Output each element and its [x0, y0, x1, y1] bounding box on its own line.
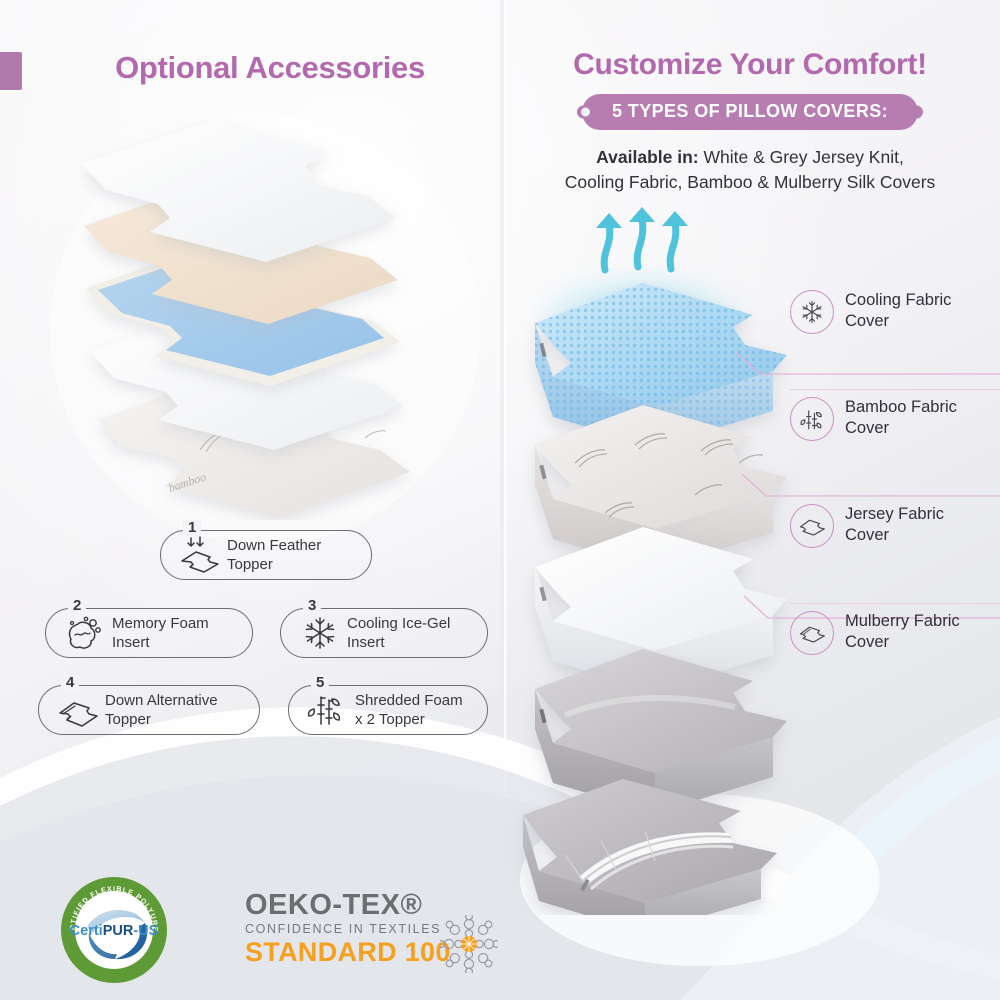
bamboo-icon [790, 397, 834, 441]
accessory-label: Down Feather Topper [227, 536, 335, 574]
corner-accent-square [0, 52, 22, 90]
available-in-text: Available in: White & Grey Jersey Knit, … [515, 145, 985, 195]
certipur-name: CertiPUR-US [70, 923, 159, 939]
accessory-number: 2 [68, 598, 86, 614]
available-in-label: Available in: [596, 147, 698, 167]
available-line-2: Cooling Fabric, Bamboo & Mulberry Silk C… [565, 172, 936, 192]
exploded-pillow-stack-illustration: bamboo bamboo [80, 120, 460, 520]
badge-notch-left [581, 108, 590, 117]
pillow-covers-stack-illustration [505, 195, 835, 915]
accessory-number: 5 [311, 675, 329, 691]
badge-notch-right [910, 108, 919, 117]
accessory-number: 4 [61, 675, 79, 691]
memory-foam-icon [62, 612, 108, 654]
snowflake-icon [297, 612, 343, 654]
accessory-label: Down Alternative Topper [105, 691, 232, 729]
accessory-pill-5[interactable]: 5 Shredded Foam x 2 Topper [288, 685, 488, 735]
accessory-label: Cooling Ice-Gel Insert [347, 614, 464, 652]
accessory-pill-3[interactable]: 3 Cooling Ice-Gel Insert [280, 608, 488, 658]
pillow-icon [790, 611, 834, 655]
left-panel-title: Optional Accessories [60, 50, 480, 86]
legend-label: Mulberry Fabric Cover [845, 609, 960, 653]
accessory-pill-1[interactable]: 1 Down Feather Topper [160, 530, 372, 580]
accessory-pill-4[interactable]: 4 Down Alternative Topper [38, 685, 260, 735]
assembled-pillow-with-zipper [523, 779, 777, 915]
down-feather-topper-icon [177, 534, 223, 576]
accessory-number: 1 [183, 520, 201, 536]
accessory-number: 3 [303, 598, 321, 614]
right-panel-title: Customize Your Comfort! [515, 48, 985, 82]
legend-label: Cooling Fabric Cover [845, 288, 951, 332]
badge-label: 5 TYPES OF PILLOW COVERS: [612, 101, 888, 121]
legend-row-bamboo[interactable]: Bamboo Fabric Cover [790, 389, 1000, 496]
available-line-1: White & Grey Jersey Knit, [703, 147, 903, 167]
legend-label: Bamboo Fabric Cover [845, 395, 957, 439]
oeko-tex-flower-icon [440, 915, 498, 973]
legend-row-jersey[interactable]: Jersey Fabric Cover [790, 496, 1000, 603]
legend-label: Jersey Fabric Cover [845, 502, 944, 546]
cover-legend-list: Cooling Fabric Cover Bamboo Fabric [790, 283, 1000, 710]
pillow-icon [790, 504, 834, 548]
pillow-covers-badge-wrap: 5 TYPES OF PILLOW COVERS: [515, 94, 985, 130]
accessory-pill-2[interactable]: 2 Memory Foam Insert [45, 608, 253, 658]
accessory-label: Shredded Foam x 2 Topper [355, 691, 477, 729]
pillow-covers-badge: 5 TYPES OF PILLOW COVERS: [582, 94, 918, 130]
snowflake-icon [790, 290, 834, 334]
bamboo-icon [305, 689, 351, 731]
down-alternative-topper-icon [55, 689, 101, 731]
legend-row-cooling[interactable]: Cooling Fabric Cover [790, 283, 1000, 389]
legend-row-mulberry[interactable]: Mulberry Fabric Cover [790, 603, 1000, 710]
certification-badges: CONTAINS CERTIFIED FLEXIBLE POLYURETHANE… [55, 875, 495, 985]
certipur-us-badge: CONTAINS CERTIFIED FLEXIBLE POLYURETHANE… [59, 875, 169, 985]
accessory-label: Memory Foam Insert [112, 614, 223, 652]
infographic-canvas: Optional Accessories Customize Your Comf… [0, 0, 1000, 1000]
cover-mulberry-fabric [535, 649, 787, 813]
